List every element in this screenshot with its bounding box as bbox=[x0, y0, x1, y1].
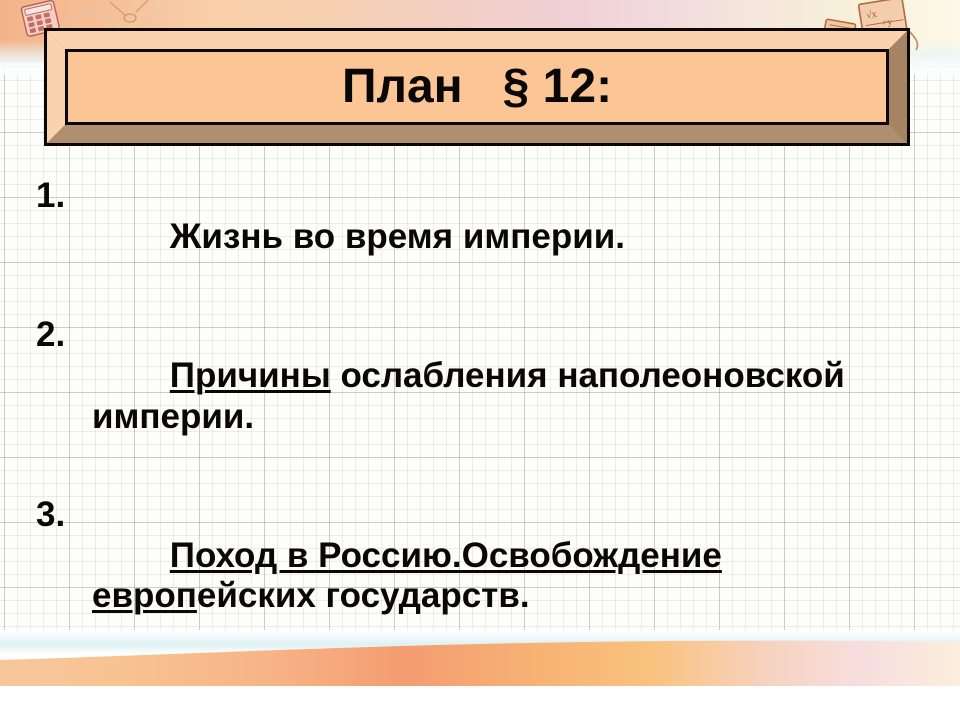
text-segment: ослабления наполеоновской bbox=[331, 356, 845, 395]
svg-text:√x: √x bbox=[865, 9, 877, 22]
text-segment-underlined: европ bbox=[92, 576, 197, 615]
title-banner: План § 12: bbox=[44, 28, 910, 146]
banner-bevel-left bbox=[47, 31, 65, 143]
text-segment-underlined: Причины bbox=[170, 356, 331, 395]
list-item-number: 2. bbox=[36, 315, 92, 356]
bottom-decorative-band bbox=[0, 630, 960, 720]
list-gap bbox=[0, 479, 960, 495]
text-segment: империи. bbox=[92, 397, 254, 436]
banner-bevel-bottom bbox=[47, 125, 907, 143]
banner-inner-panel: План § 12: bbox=[65, 49, 889, 125]
text-segment: Жизнь во время империи. bbox=[170, 217, 625, 256]
list-gap bbox=[0, 299, 960, 315]
slide: √x +y План § 12: 1. Жизнь во время импер… bbox=[0, 0, 960, 720]
text-segment-underlined: Поход в Россию.Освобождение bbox=[170, 536, 722, 575]
list-item-text: Причины ослабления наполеоновскойимперии… bbox=[92, 315, 960, 479]
list-item-number: 1. bbox=[36, 176, 92, 217]
list-item-text: Жизнь во время империи. bbox=[92, 176, 960, 299]
list-item: 1. Жизнь во время империи. bbox=[0, 176, 960, 299]
list-item: 2. Причины ослабления наполеоновскойимпе… bbox=[0, 315, 960, 479]
banner-bevel-top bbox=[47, 31, 907, 49]
text-segment: ейских государств. bbox=[197, 576, 530, 615]
banner-bevel-right bbox=[889, 31, 907, 143]
page-title: План § 12: bbox=[342, 63, 612, 111]
bottom-swoosh bbox=[0, 630, 960, 720]
list-item-number: 3. bbox=[36, 495, 92, 536]
